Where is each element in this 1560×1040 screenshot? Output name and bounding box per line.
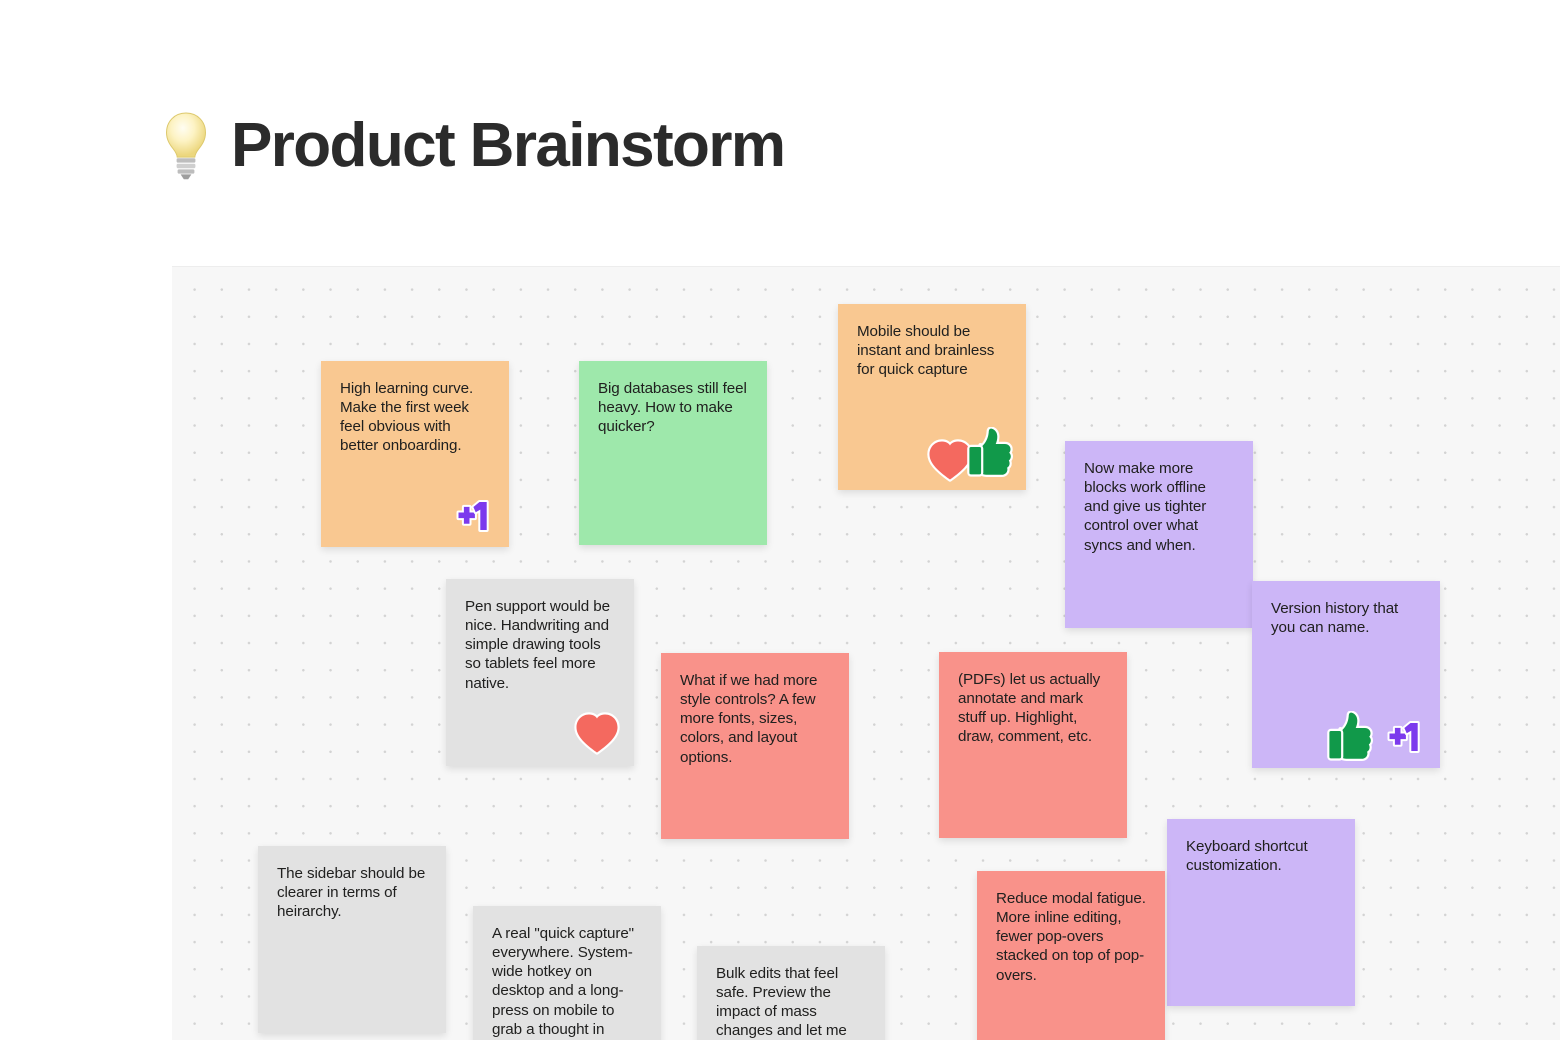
note-text: Pen support would be nice. Handwriting a… xyxy=(465,597,615,693)
reaction-cluster[interactable] xyxy=(448,490,496,538)
note-text: Big databases still feel heavy. How to m… xyxy=(598,379,748,436)
note-text: Version history that you can name. xyxy=(1271,599,1421,637)
note-text: Mobile should be instant and brainless f… xyxy=(857,322,1007,379)
note-pdf-annotate[interactable]: (PDFs) let us actually annotate and mark… xyxy=(939,652,1127,838)
brainstorm-board-page: Product Brainstorm High learning curve. … xyxy=(0,0,1560,1040)
note-text: Reduce modal fatigue. More inline editin… xyxy=(996,889,1146,985)
note-text: Now make more blocks work offline and gi… xyxy=(1084,459,1234,555)
sticky-note-canvas[interactable]: High learning curve. Make the first week… xyxy=(172,266,1560,1040)
note-version-history[interactable]: Version history that you can name. xyxy=(1252,581,1440,768)
note-sidebar-hierarchy[interactable]: The sidebar should be clearer in terms o… xyxy=(258,846,446,1033)
plus-one-sticker[interactable] xyxy=(1379,711,1427,759)
note-high-learning-curve[interactable]: High learning curve. Make the first week… xyxy=(321,361,509,547)
note-style-controls[interactable]: What if we had more style controls? A fe… xyxy=(661,653,849,839)
note-text: Bulk edits that feel safe. Preview the i… xyxy=(716,964,866,1040)
note-quick-capture[interactable]: A real "quick capture" everywhere. Syste… xyxy=(473,906,661,1040)
note-text: Keyboard shortcut customization. xyxy=(1186,837,1336,875)
thumbs-up-sticker[interactable] xyxy=(1327,711,1373,761)
note-pen-support[interactable]: Pen support would be nice. Handwriting a… xyxy=(446,579,634,766)
note-mobile-instant[interactable]: Mobile should be instant and brainless f… xyxy=(838,304,1026,490)
note-keyboard-shortcut[interactable]: Keyboard shortcut customization. xyxy=(1167,819,1355,1006)
note-text: What if we had more style controls? A fe… xyxy=(680,671,830,767)
reaction-cluster[interactable] xyxy=(573,709,621,757)
reaction-cluster[interactable] xyxy=(1327,711,1427,759)
note-text: The sidebar should be clearer in terms o… xyxy=(277,864,427,921)
reaction-cluster[interactable] xyxy=(926,427,1013,481)
page-title: Product Brainstorm xyxy=(231,115,784,177)
note-bulk-edits[interactable]: Bulk edits that feel safe. Preview the i… xyxy=(697,946,885,1040)
page-header: Product Brainstorm xyxy=(163,103,784,189)
note-big-databases[interactable]: Big databases still feel heavy. How to m… xyxy=(579,361,767,545)
plus-one-sticker[interactable] xyxy=(448,490,496,538)
thumbs-up-sticker[interactable] xyxy=(967,427,1013,477)
note-modal-fatigue[interactable]: Reduce modal fatigue. More inline editin… xyxy=(977,871,1165,1040)
note-text: (PDFs) let us actually annotate and mark… xyxy=(958,670,1108,747)
lightbulb-icon xyxy=(163,111,209,181)
note-offline-blocks[interactable]: Now make more blocks work offline and gi… xyxy=(1065,441,1253,628)
note-text: A real "quick capture" everywhere. Syste… xyxy=(492,924,642,1040)
note-text: High learning curve. Make the first week… xyxy=(340,379,490,456)
heart-sticker[interactable] xyxy=(573,709,621,757)
